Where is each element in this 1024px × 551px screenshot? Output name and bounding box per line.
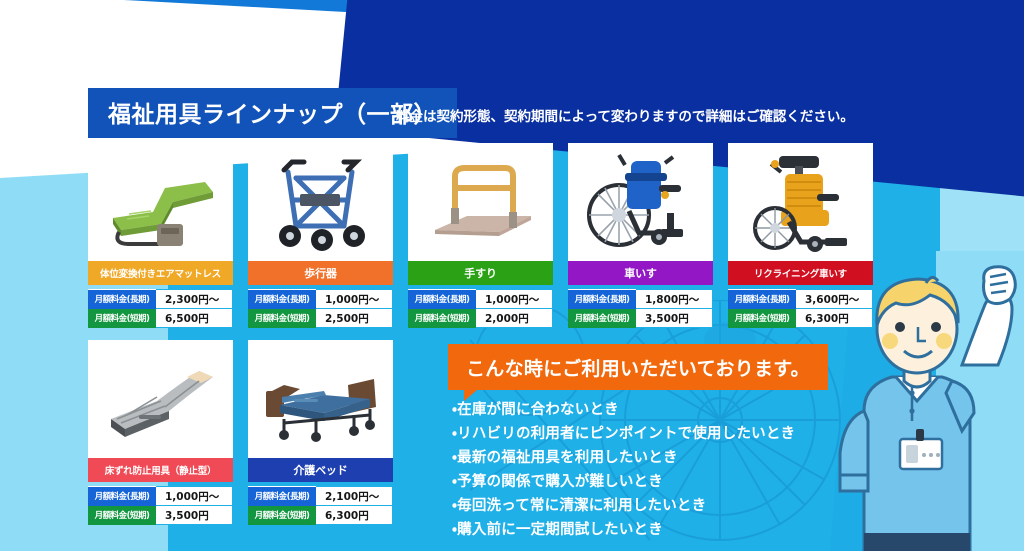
price-label-short: 月額料金(短期) (88, 506, 156, 525)
price-label-short: 月額料金(短期) (728, 309, 796, 328)
list-item: 予算の関係で購入が難しいとき (452, 470, 795, 494)
handrail-icon (421, 154, 541, 250)
price-row-long: 月額料金(長期) 1,000円〜 (88, 487, 233, 506)
list-item: 購入前に一定期間試したいとき (452, 518, 795, 542)
product-price-table: 月額料金(長期) 2,100円〜 月額料金(短期) 6,300円 (248, 486, 393, 525)
product-photo (568, 143, 713, 261)
product-photo (88, 340, 233, 458)
price-value-long: 1,000円〜 (316, 290, 393, 309)
list-item: リハビリの利用者にピンポイントで使用したいとき (452, 422, 795, 446)
product-card[interactable]: 介護ベッド 月額料金(長期) 2,100円〜 月額料金(短期) 6,300円 (248, 340, 393, 525)
page-subtitle: 料金は契約形態、契約期間によって変わりますので詳細はご確認ください。 (396, 105, 854, 125)
product-photo (248, 340, 393, 458)
price-label-short: 月額料金(短期) (88, 309, 156, 328)
product-card[interactable]: 床ずれ防止用具（静止型） 月額料金(長期) 1,000円〜 月額料金(短期) 3… (88, 340, 233, 525)
price-value-long: 2,100円〜 (316, 487, 393, 506)
price-value-short: 3,500円 (636, 309, 713, 328)
price-label-long: 月額料金(長期) (248, 487, 316, 506)
price-label-long: 月額料金(長期) (88, 290, 156, 309)
product-photo (248, 143, 393, 261)
care-bed-icon (254, 349, 388, 449)
price-label-short: 月額料金(短期) (568, 309, 636, 328)
product-price-table: 月額料金(長期) 1,800円〜 月額料金(短期) 3,500円 (568, 289, 713, 328)
product-name: 体位変換付きエアマットレス (88, 261, 233, 285)
price-label-short: 月額料金(短期) (408, 309, 476, 328)
price-label-short: 月額料金(短期) (248, 506, 316, 525)
price-value-short: 6,500円 (156, 309, 233, 328)
pressure-mattress-icon (95, 349, 227, 449)
product-name: 床ずれ防止用具（静止型） (88, 458, 233, 482)
price-row-short: 月額料金(短期) 3,500円 (88, 506, 233, 525)
product-card[interactable]: 歩行器 月額料金(長期) 1,000円〜 月額料金(短期) 2,500円 (248, 143, 393, 328)
product-card[interactable]: 体位変換付きエアマットレス 月額料金(長期) 2,300円〜 月額料金(短期) … (88, 143, 233, 328)
product-card[interactable]: 車いす 月額料金(長期) 1,800円〜 月額料金(短期) 3,500円 (568, 143, 713, 328)
care-staff-illustration (834, 261, 1024, 551)
price-row-short: 月額料金(短期) 2,500円 (248, 309, 393, 328)
price-label-long: 月額料金(長期) (88, 487, 156, 506)
price-row-short: 月額料金(短期) 6,500円 (88, 309, 233, 328)
price-value-short: 6,300円 (316, 506, 393, 525)
list-item: 最新の福祉用具を利用したいとき (452, 446, 795, 470)
price-value-long: 1,000円〜 (476, 290, 553, 309)
price-label-long: 月額料金(長期) (568, 290, 636, 309)
walker-icon (266, 148, 376, 256)
price-row-long: 月額料金(長期) 2,300円〜 (88, 290, 233, 309)
price-label-short: 月額料金(短期) (248, 309, 316, 328)
price-row-short: 月額料金(短期) 2,000円 (408, 309, 553, 328)
slide-canvas: 福祉用具ラインナップ（一部） 料金は契約形態、契約期間によって変わりますので詳細… (0, 0, 1024, 551)
product-price-table: 月額料金(長期) 1,000円〜 月額料金(短期) 2,500円 (248, 289, 393, 328)
usage-callout-heading: こんな時にご利用いただいております。 (466, 354, 810, 381)
product-photo (88, 143, 233, 261)
product-name: 介護ベッド (248, 458, 393, 482)
product-photo (728, 143, 873, 261)
product-card[interactable]: 手すり 月額料金(長期) 1,000円〜 月額料金(短期) 2,000円 (408, 143, 553, 328)
list-item: 在庫が間に合わないとき (452, 398, 795, 422)
usage-callout-banner: こんな時にご利用いただいております。 (448, 344, 828, 390)
price-value-long: 1,000円〜 (156, 487, 233, 506)
price-label-long: 月額料金(長期) (248, 290, 316, 309)
product-photo (408, 143, 553, 261)
product-price-table: 月額料金(長期) 1,000円〜 月額料金(短期) 3,500円 (88, 486, 233, 525)
product-name: 歩行器 (248, 261, 393, 285)
product-price-table: 月額料金(長期) 1,000円〜 月額料金(短期) 2,000円 (408, 289, 553, 328)
price-value-short: 2,500円 (316, 309, 393, 328)
product-price-table: 月額料金(長期) 2,300円〜 月額料金(短期) 6,500円 (88, 289, 233, 328)
usage-bullet-list: 在庫が間に合わないとき リハビリの利用者にピンポイントで使用したいとき 最新の福… (452, 398, 795, 542)
reclining-wheelchair-icon (741, 148, 861, 256)
price-value-long: 1,800円〜 (636, 290, 713, 309)
price-value-long: 2,300円〜 (156, 290, 233, 309)
wheelchair-icon (581, 149, 701, 255)
air-mattress-icon (95, 152, 227, 252)
price-row-short: 月額料金(短期) 3,500円 (568, 309, 713, 328)
price-row-long: 月額料金(長期) 1,800円〜 (568, 290, 713, 309)
page-title-text: 福祉用具ラインナップ（一部） (108, 95, 437, 129)
price-row-long: 月額料金(長期) 1,000円〜 (408, 290, 553, 309)
product-name: 手すり (408, 261, 553, 285)
price-label-long: 月額料金(長期) (408, 290, 476, 309)
price-row-short: 月額料金(短期) 6,300円 (248, 506, 393, 525)
product-row-1: 体位変換付きエアマットレス 月額料金(長期) 2,300円〜 月額料金(短期) … (88, 143, 898, 328)
price-row-long: 月額料金(長期) 2,100円〜 (248, 487, 393, 506)
price-value-short: 3,500円 (156, 506, 233, 525)
product-name: 車いす (568, 261, 713, 285)
price-value-short: 2,000円 (476, 309, 553, 328)
list-item: 毎回洗って常に清潔に利用したいとき (452, 494, 795, 518)
price-row-long: 月額料金(長期) 1,000円〜 (248, 290, 393, 309)
price-label-long: 月額料金(長期) (728, 290, 796, 309)
